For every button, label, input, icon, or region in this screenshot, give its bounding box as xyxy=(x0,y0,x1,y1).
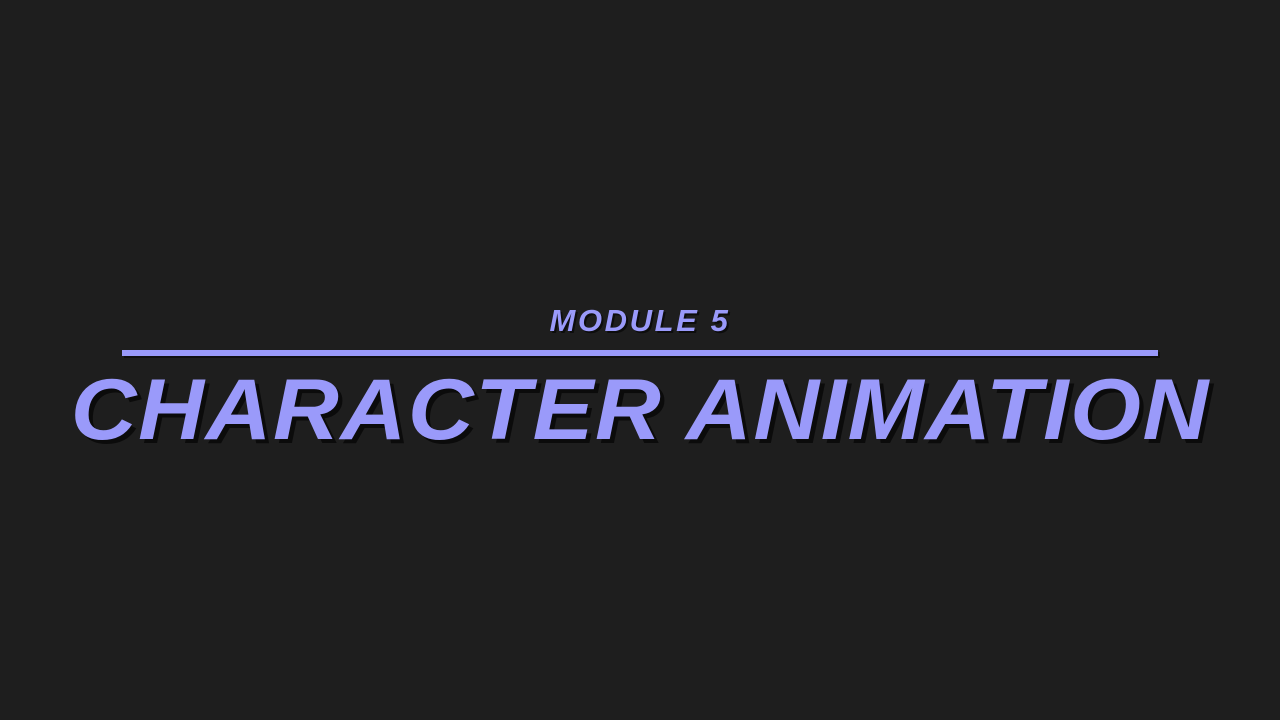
title-card-slide: MODULE 5 CHARACTER ANIMATION xyxy=(0,0,1280,720)
page-title: CHARACTER ANIMATION xyxy=(70,367,1209,453)
title-divider-rule xyxy=(122,350,1158,356)
title-block: MODULE 5 CHARACTER ANIMATION xyxy=(0,305,1280,453)
module-eyebrow-label: MODULE 5 xyxy=(550,305,731,336)
